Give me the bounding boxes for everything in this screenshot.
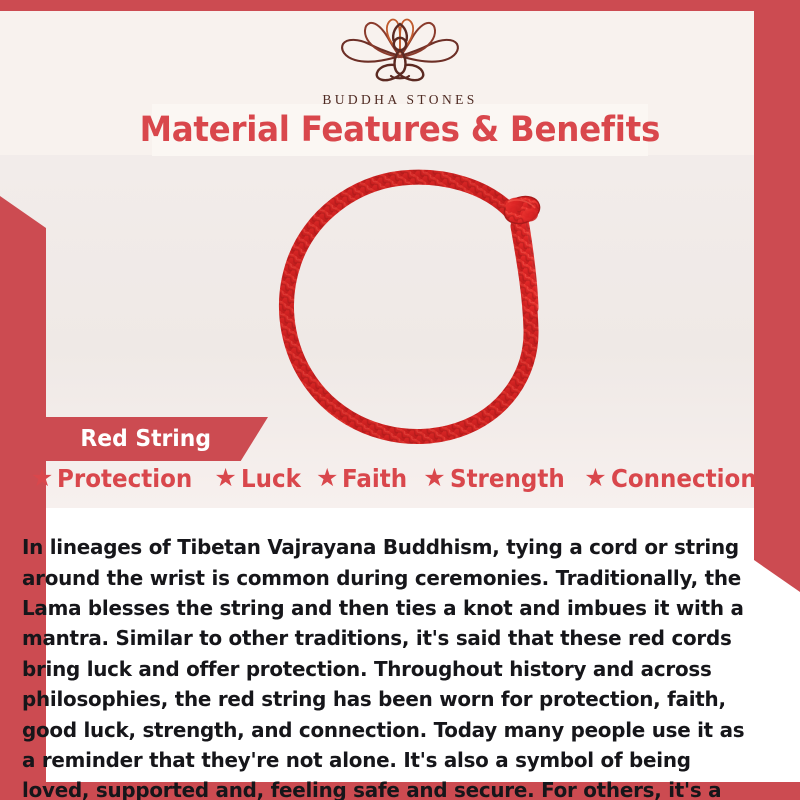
page-title: Material Features & Benefits xyxy=(140,113,660,148)
feature-item-protection: ★ Protection xyxy=(31,466,204,491)
star-icon: ★ xyxy=(214,466,236,491)
section-ribbon-red-string: Red String xyxy=(20,417,268,461)
star-icon: ★ xyxy=(584,466,606,491)
infographic-poster: BUDDHA STONES Material Features & Benefi… xyxy=(0,0,800,800)
product-image-red-string-bracelet xyxy=(250,158,580,458)
feature-label: Faith xyxy=(342,466,407,491)
feature-item-strength: ★ Strength xyxy=(423,466,574,491)
feature-label: Protection xyxy=(57,466,192,491)
star-icon: ★ xyxy=(316,466,338,491)
feature-item-luck: ★ Luck xyxy=(214,466,306,491)
feature-item-faith: ★ Faith xyxy=(316,466,413,491)
lotus-meditation-figure-icon xyxy=(325,16,475,88)
ribbon-label: Red String xyxy=(80,428,211,451)
feature-label: Connection xyxy=(611,466,757,491)
feature-item-connection: ★ Connection xyxy=(584,466,769,491)
star-icon: ★ xyxy=(31,466,53,491)
bracelet-illustration xyxy=(250,158,580,458)
top-red-border-bar xyxy=(0,0,800,11)
title-band: Material Features & Benefits xyxy=(152,104,648,156)
star-icon: ★ xyxy=(423,466,445,491)
feature-list: ★ Protection ★ Luck ★ Faith ★ Strength ★… xyxy=(28,466,772,491)
feature-label: Luck xyxy=(241,466,301,491)
feature-label: Strength xyxy=(450,466,565,491)
brand-logo: BUDDHA STONES xyxy=(0,16,800,108)
body-paragraph: In lineages of Tibetan Vajrayana Buddhis… xyxy=(22,532,763,800)
